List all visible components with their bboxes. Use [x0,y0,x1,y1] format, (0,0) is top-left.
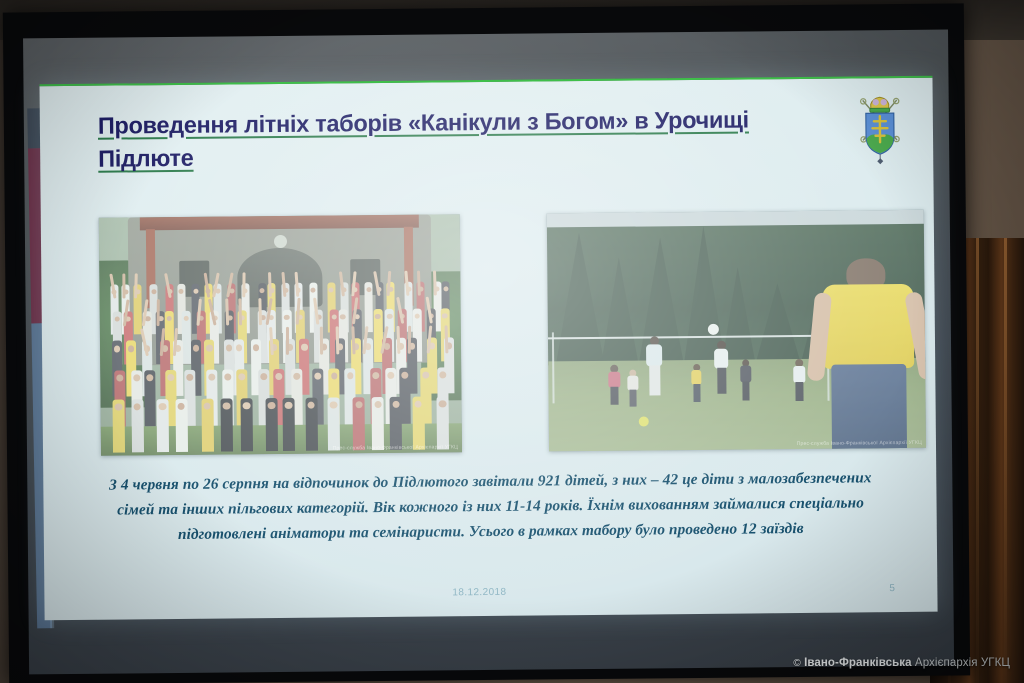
slide-title-line-2: Підлюте [98,145,193,172]
slide-page-number: 5 [889,583,895,594]
eparchy-coat-of-arms-icon [853,92,908,167]
photo-inner-watermark: Прес-служба Івано-Франківської Архієпарх… [333,444,458,451]
copyright-symbol: © [793,658,800,669]
copyright-watermark: © Івано-Франківська Архієпархія УГКЦ [793,657,1010,669]
slide-title: Проведення літніх таборів «Канікули з Бо… [98,103,839,177]
projector-screen-frame: Проведення літніх таборів «Канікули з Бо… [3,3,970,683]
presentation-slide: Проведення літніх таборів «Канікули з Бо… [39,76,937,621]
photo-volleyball-game: Прес-служба Івано-Франківської Архієпарх… [547,210,926,452]
copyright-organization-light: Архієпархія УГКЦ [915,657,1010,669]
photo-inner-watermark: Прес-служба Івано-Франківської Архієпарх… [797,440,922,447]
slide-footer-date: 18.12.2018 [452,587,506,599]
copyright-organization-bold: Івано-Франківська [804,657,912,669]
photo-group-in-front-of-church: Прес-служба Івано-Франківської Архієпарх… [99,214,462,455]
slide-title-line-1: Проведення літніх таборів «Канікули з Бо… [98,106,749,138]
screenshot-root: Проведення літніх таборів «Канікули з Бо… [0,0,1024,683]
crowd-figures [107,279,455,430]
slide-photo-row: Прес-служба Івано-Франківської Архієпарх… [99,210,879,455]
foreground-player-yellow-shirt [819,257,919,448]
slide-body-text: З 4 червня по 26 серпня на відпочинок до… [105,466,876,548]
